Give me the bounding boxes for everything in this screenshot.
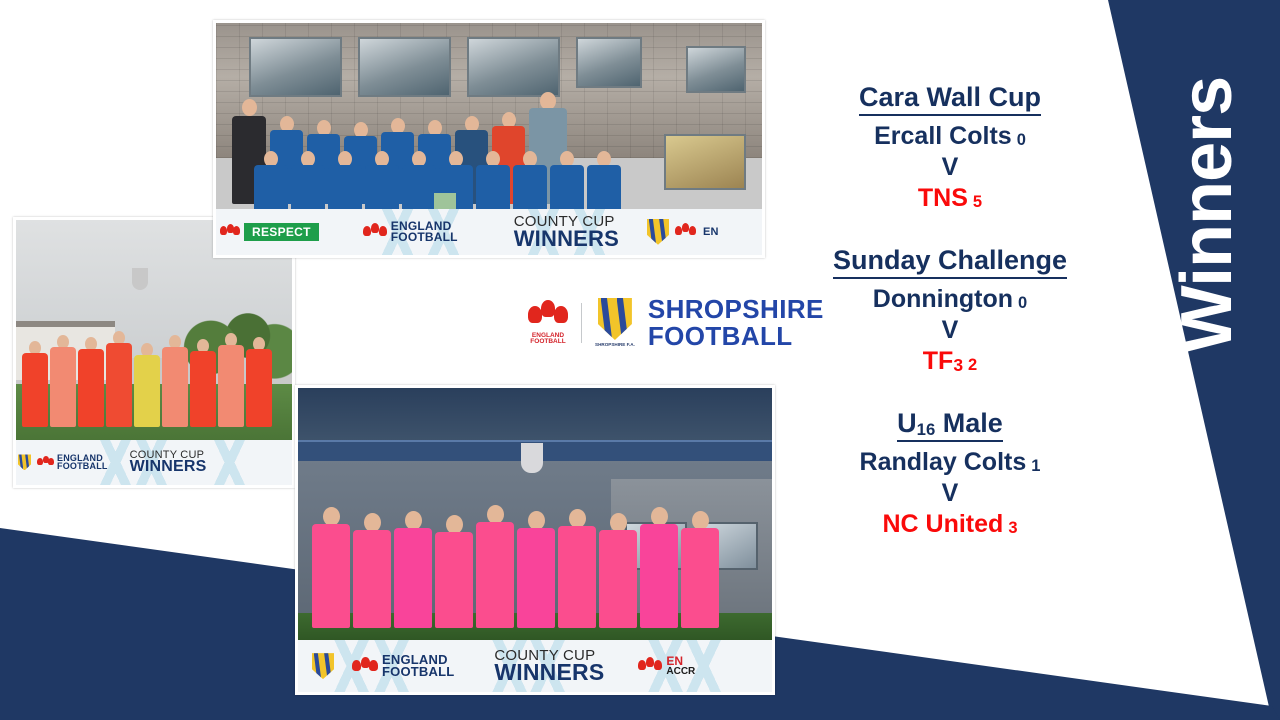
three-lions-icon [675,223,697,240]
away-team-line: TNS5 [800,183,1100,214]
england-hoarding-line2: FOOTBALL [391,232,458,243]
england-hoarding-line2: FOOTBALL [57,462,108,470]
shropshire-fa-shield-icon [647,219,669,245]
advertising-hoarding: ENGLAND FOOTBALL COUNTY CUP WINNERS [16,440,292,485]
result-block-u16-male: U16 Male Randlay Colts1 V NC United3 [800,408,1100,539]
away-team-name-suffix: 3 [953,355,963,375]
accrington-hoarding-line2: ACCR [666,667,695,676]
person [558,509,596,628]
home-team-score: 1 [1031,457,1040,475]
shropshire-football-logo: ENGLAND FOOTBALL SHROPSHIRE F.A. SHROPSH… [528,296,824,349]
result-block-sunday-challenge: Sunday Challenge Donnington0 V TF32 [800,245,1100,376]
person [218,333,244,427]
advertising-hoarding: ENGLAND FOOTBALL COUNTY CUP WINNERS [298,640,772,692]
accrington-hoarding-line1: EN [703,227,719,237]
person [78,337,104,427]
winners-vertical-banner: Winners [1132,0,1280,430]
competition-title: Sunday Challenge [833,245,1067,279]
window [358,37,451,97]
shropshire-fa-shield-icon [18,454,31,470]
person [476,505,514,628]
shropshire-fa-shield-icon [598,298,632,340]
three-lions-icon [528,300,568,330]
logo-divider [581,303,582,343]
county-cup-line2: WINNERS [514,229,619,249]
away-team-name: TNS [918,184,968,212]
home-team-score: 0 [1017,131,1026,149]
home-team-name: Randlay Colts [860,448,1027,476]
person [599,513,637,628]
person [246,337,272,427]
three-lions-icon [363,223,387,241]
trophy-icon [132,268,148,290]
window [467,37,560,97]
brand-line-2: FOOTBALL [648,323,824,350]
away-team-line: TF32 [800,346,1100,377]
competition-title: U16 Male [897,408,1003,442]
versus-label: V [800,315,1100,346]
window [686,46,746,92]
window [576,37,642,88]
slide-canvas: Winners [0,0,1280,720]
womens-team-trophy-photo: RESPECT ENGLAND FOOTBALL COUNTY CU [213,20,765,258]
person [50,335,76,427]
competition-title-suffix: 16 [917,420,936,439]
away-team-name: NC United [882,510,1003,538]
match-results-list: Cara Wall Cup Ercall Colts0 V TNS5 Sunda… [800,82,1100,539]
home-team-name: Donnington [873,285,1013,313]
youth-team-trophy-photo: ENGLAND FOOTBALL COUNTY CUP WINNERS [295,385,775,695]
away-team-score: 5 [973,193,982,211]
person [640,507,678,628]
competition-title: Cara Wall Cup [859,82,1041,116]
person [312,507,350,628]
three-lions-icon [638,657,662,675]
advertising-hoarding: RESPECT ENGLAND FOOTBALL COUNTY CU [216,209,762,255]
versus-label: V [800,152,1100,183]
away-team-name: TF [923,347,954,375]
person [353,513,391,628]
home-team-line: Donnington0 [800,284,1100,315]
away-team-score: 2 [968,356,977,374]
person [517,511,555,628]
brand-line-1: SHROPSHIRE [648,296,824,323]
winners-label: Winners [1171,77,1243,353]
away-team-line: NC United3 [800,509,1100,540]
three-lions-icon [220,224,240,240]
window [664,134,746,190]
person [681,511,719,628]
home-team-name: Ercall Colts [874,122,1012,150]
shropshire-fa-shield-icon [312,653,334,679]
window [249,37,342,97]
celebrating-row [312,505,719,628]
person [394,511,432,628]
county-cup-line2: WINNERS [130,460,207,475]
person [134,343,160,427]
person [106,331,132,427]
three-lions-icon [352,657,378,676]
england-hoarding-line2: FOOTBALL [382,666,454,678]
celebrating-row [22,331,272,427]
person [22,341,48,427]
away-team-score: 3 [1008,519,1017,537]
england-crest-caption: ENGLAND FOOTBALL [530,333,565,346]
shropshire-crest-caption: SHROPSHIRE F.A. [595,342,635,347]
county-cup-line2: WINNERS [494,662,604,683]
person [190,339,216,427]
result-block-cara-wall-cup: Cara Wall Cup Ercall Colts0 V TNS5 [800,82,1100,213]
home-team-score: 0 [1018,294,1027,312]
trophy-icon [521,443,543,473]
versus-label: V [800,478,1100,509]
brand-wordmark: SHROPSHIRE FOOTBALL [648,296,824,349]
home-team-line: Randlay Colts1 [800,447,1100,478]
person [435,515,473,628]
person [162,335,188,427]
home-team-line: Ercall Colts0 [800,121,1100,152]
respect-badge: RESPECT [244,223,319,241]
three-lions-icon [37,456,54,469]
